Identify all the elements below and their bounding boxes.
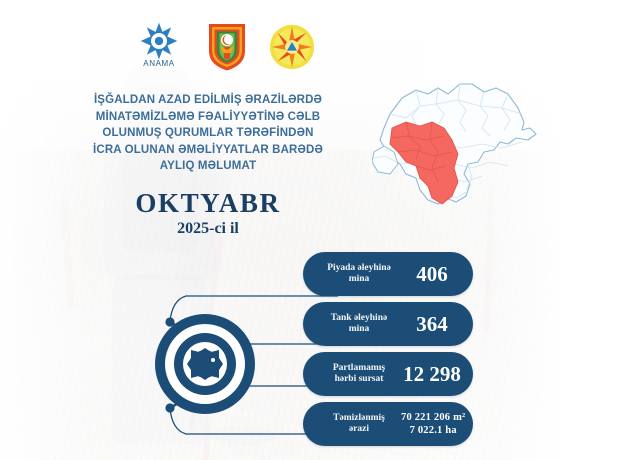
headline-line: İŞĞALDAN AZAD EDİLMİŞ ƏRAZİLƏRDƏ: [48, 92, 368, 109]
stat-label-line: hərbi sursat: [335, 374, 384, 384]
stat-value: 70 221 206 m² 7 022.1 ha: [401, 411, 465, 437]
stat-value: 406: [401, 263, 463, 286]
anama-logo-label: ANAMA: [133, 59, 185, 68]
shield-emblem-icon: [207, 22, 247, 72]
demining-target-emblem: [153, 312, 257, 416]
stat-label-line: ərazi: [349, 424, 369, 434]
month-title: OKTYABR: [48, 188, 368, 218]
eight-point-star-icon: [140, 22, 178, 60]
target-emblem-icon: [153, 312, 257, 416]
emergency-ministry-logo: [269, 24, 315, 70]
stat-label: Piyada əleyhinə mina: [317, 263, 401, 286]
headline-line: İCRA OLUNAN ƏMƏLİYYATLAR BARƏDƏ: [48, 142, 368, 159]
stat-value: 12 298: [401, 363, 463, 386]
stat-label-line: mina: [349, 274, 370, 284]
statistics-list: Piyada əleyhinə mina 406 Tank əleyhinə m…: [303, 252, 473, 452]
anama-logo: ANAMA: [133, 22, 185, 74]
azerbaijan-coat-of-arms: [207, 22, 247, 72]
stat-value-line: 7 022.1 ha: [401, 424, 465, 437]
stat-value: 364: [401, 313, 463, 336]
stat-label: Tank əleyhinə mina: [317, 313, 401, 336]
azerbaijan-map: [372, 78, 604, 216]
headline: İŞĞALDAN AZAD EDİLMİŞ ƏRAZİLƏRDƏ MİNATƏM…: [48, 92, 368, 175]
stat-row-anti-tank-mines[interactable]: Tank əleyhinə mina 364: [303, 302, 473, 346]
stat-label-line: Tank əleyhinə: [331, 313, 387, 323]
stat-row-unexploded-ordnance[interactable]: Partlamamış hərbi sursat 12 298: [303, 352, 473, 396]
stat-value-line: 70 221 206 m²: [401, 411, 465, 424]
title-block: İŞĞALDAN AZAD EDİLMİŞ ƏRAZİLƏRDƏ MİNATƏM…: [48, 92, 368, 239]
logo-strip: ANAMA: [133, 22, 319, 76]
star-circle-emblem-icon: [269, 24, 315, 70]
stat-row-anti-personnel-mines[interactable]: Piyada əleyhinə mina 406: [303, 252, 473, 296]
stat-label-line: Partlamamış: [333, 363, 385, 373]
year-subtitle: 2025-ci il: [48, 219, 368, 239]
stat-label-line: Təmizlənmiş: [333, 413, 385, 423]
stat-label: Təmizlənmiş ərazi: [317, 413, 401, 436]
headline-line: MİNATƏMİZLƏMƏ FƏALİYYƏTİNƏ CƏLB: [48, 109, 368, 126]
headline-line: OLUNMUŞ QURUMLAR TƏRƏFİNDƏN: [48, 125, 368, 142]
stat-label-line: Piyada əleyhinə: [327, 263, 391, 273]
stat-label-line: mina: [349, 324, 370, 334]
azerbaijan-map-svg: [372, 78, 604, 216]
stat-row-cleared-area[interactable]: Təmizlənmiş ərazi 70 221 206 m² 7 022.1 …: [303, 402, 473, 446]
stat-label: Partlamamış hərbi sursat: [317, 363, 401, 386]
infographic-poster: ANAMA: [0, 0, 620, 460]
headline-line: AYLIQ MƏLUMAT: [48, 158, 368, 175]
